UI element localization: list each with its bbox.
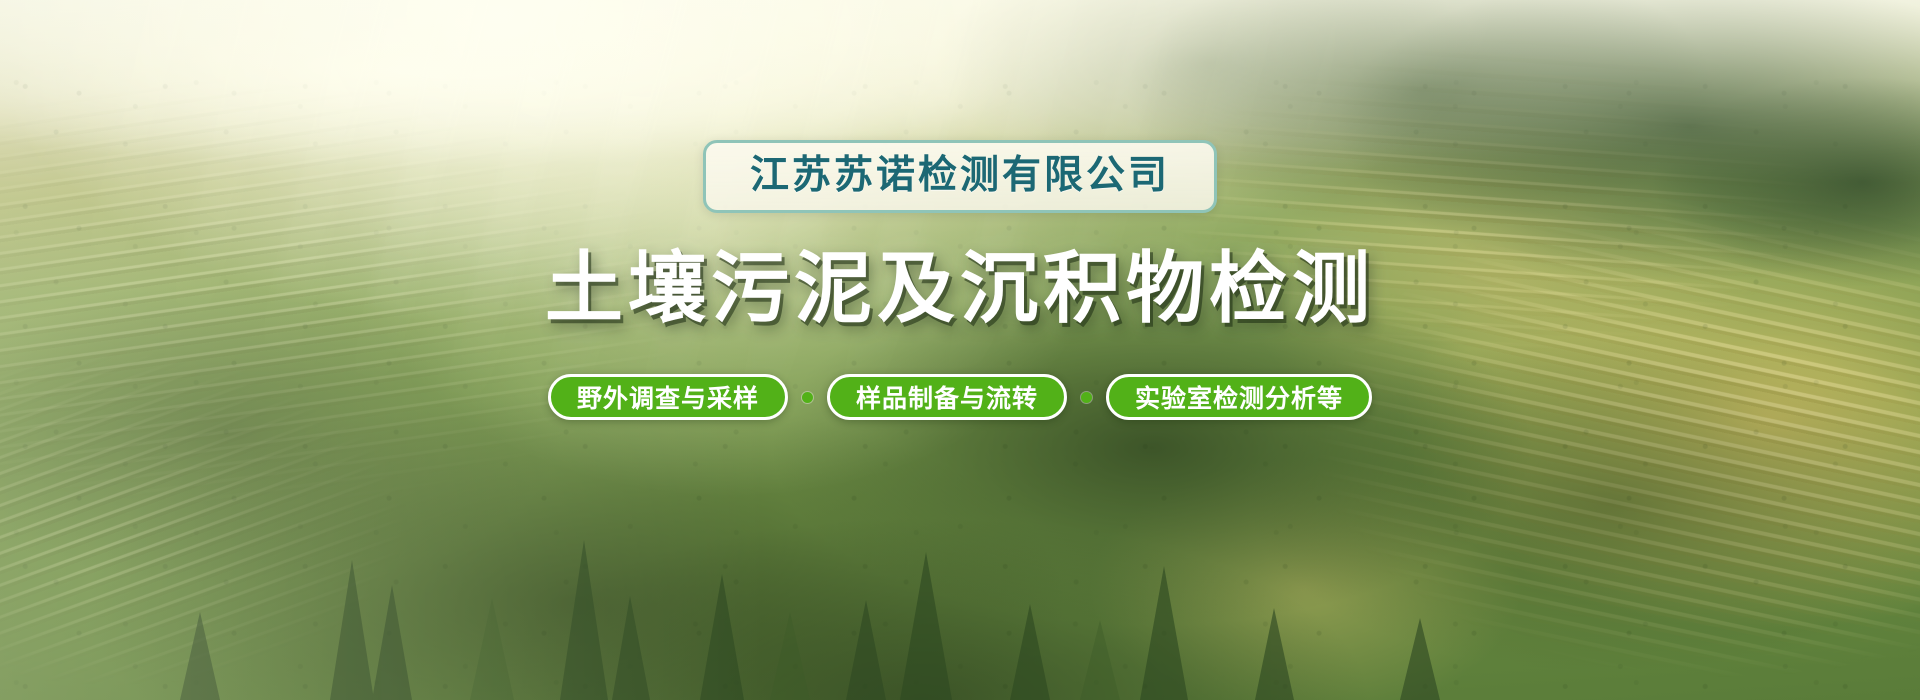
- tag-separator-dot-icon: [802, 392, 813, 403]
- company-name-plaque: 江苏苏诺检测有限公司: [703, 140, 1217, 213]
- company-name: 江苏苏诺检测有限公司: [750, 156, 1170, 195]
- page-title: 土壤污泥及沉积物检测: [545, 245, 1375, 332]
- hero-banner: 江苏苏诺检测有限公司 土壤污泥及沉积物检测 野外调查与采样 样品制备与流转 实验…: [0, 0, 1920, 700]
- tag-separator-dot-icon: [1081, 392, 1092, 403]
- service-tag-field-survey[interactable]: 野外调查与采样: [548, 374, 788, 420]
- service-tags: 野外调查与采样 样品制备与流转 实验室检测分析等: [548, 374, 1372, 420]
- banner-content: 江苏苏诺检测有限公司 土壤污泥及沉积物检测 野外调查与采样 样品制备与流转 实验…: [0, 0, 1920, 700]
- service-tag-sample-prep[interactable]: 样品制备与流转: [827, 374, 1067, 420]
- service-tag-lab-analysis[interactable]: 实验室检测分析等: [1106, 374, 1372, 420]
